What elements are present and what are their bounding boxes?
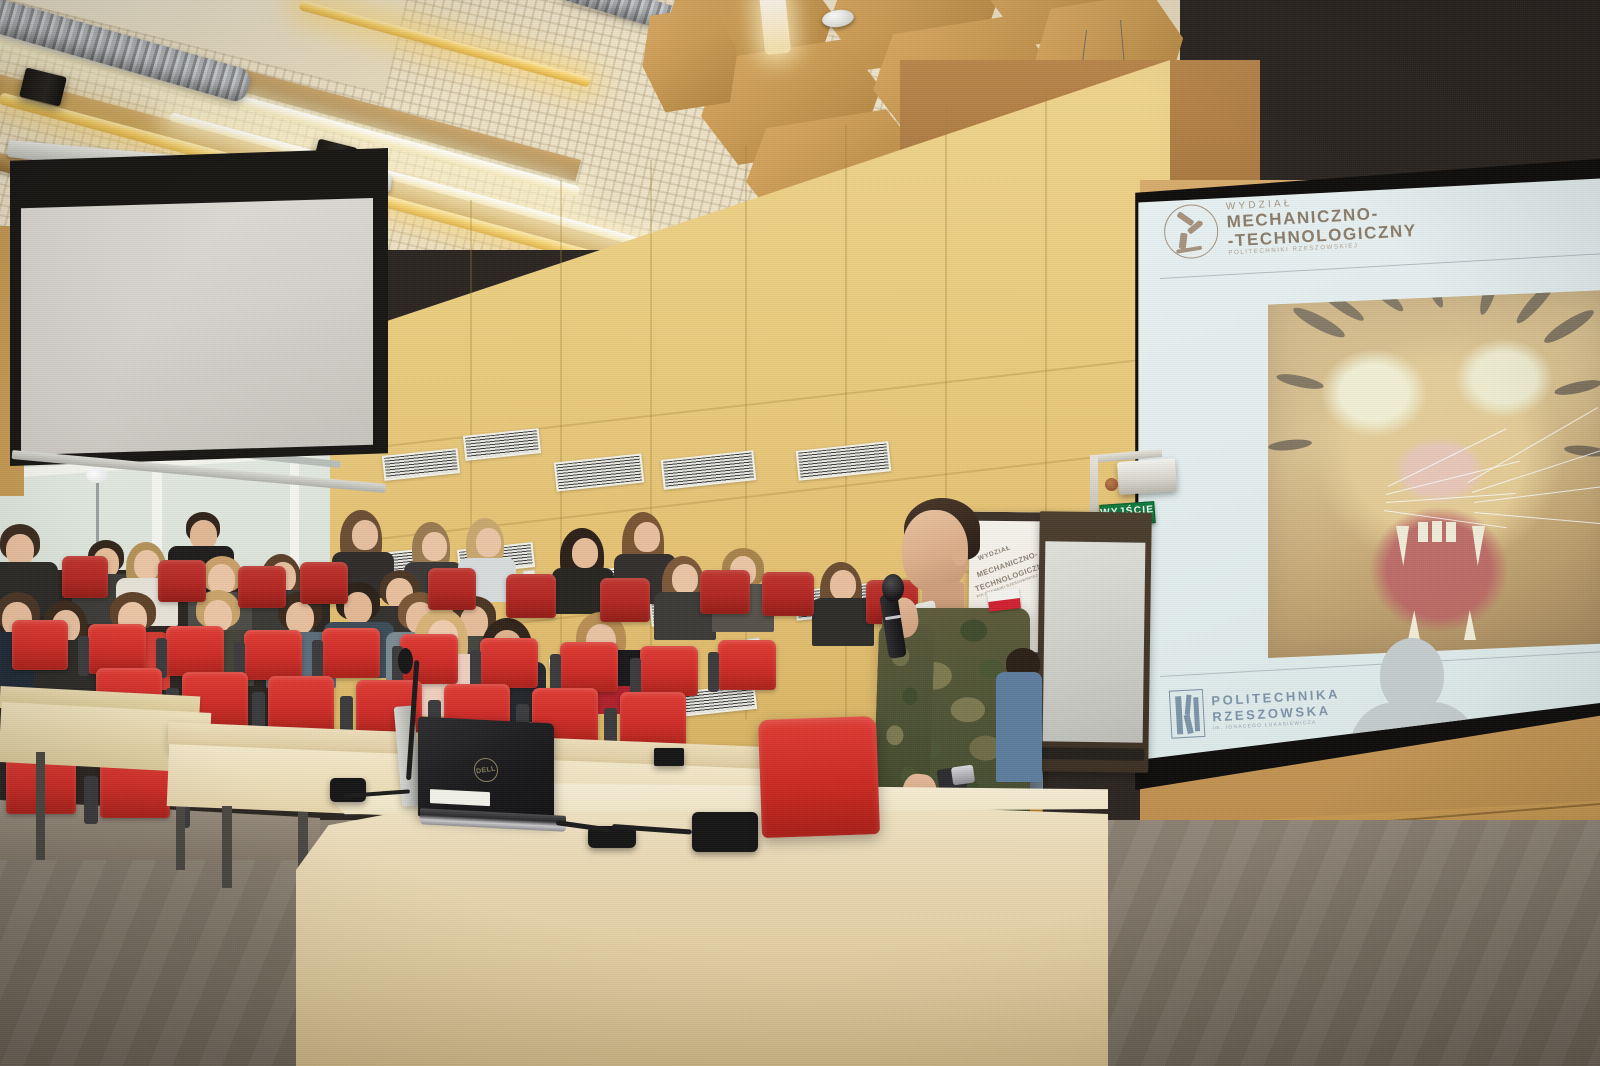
- dell-logo: DELL: [472, 756, 500, 783]
- ceiling-projector: [1117, 458, 1177, 495]
- retractable-projection-screen[interactable]: [0, 140, 400, 500]
- lecture-hall-photo: WYDZIAŁ MECHANICZNO- -TECHNOLOGICZNY POL…: [0, 0, 1600, 1066]
- robotic-arm-circle-icon: [1163, 203, 1220, 260]
- microphone-grille-icon: [882, 574, 904, 602]
- projector-lens-icon: [1105, 478, 1118, 491]
- presentation-slide: WYDZIAŁ MECHANICZNO- -TECHNOLOGICZNY POL…: [1136, 178, 1600, 760]
- wristwatch: [951, 765, 975, 786]
- main-projection-screen[interactable]: WYDZIAŁ MECHANICZNO- -TECHNOLOGICZNY POL…: [1128, 158, 1600, 790]
- gooseneck-mic-head-icon: [398, 648, 413, 674]
- desk-cable-bundle: [330, 778, 366, 802]
- presenter-ear: [952, 546, 967, 566]
- roaring-tiger-photo: [1268, 290, 1600, 658]
- desk-leg: [36, 752, 45, 860]
- politechnika-rzeszowska-logo: POLITECHNIKA RZESZOWSKA im. IGNACEGO ŁUK…: [1169, 681, 1342, 738]
- wmt-logo: WYDZIAŁ MECHANICZNO- -TECHNOLOGICZNY POL…: [1163, 191, 1418, 261]
- desk-name-plate-holder: [654, 748, 684, 766]
- pendant-light: [759, 0, 791, 55]
- desk-equipment-box: [692, 812, 758, 852]
- politechnika-rzeszowska-mark-icon: [1169, 689, 1206, 739]
- polish-flag-patch: [987, 588, 1021, 612]
- presenter-laptop[interactable]: DELL: [418, 716, 554, 823]
- projector-mount-post: [1090, 455, 1098, 517]
- counter-leg: [222, 806, 232, 888]
